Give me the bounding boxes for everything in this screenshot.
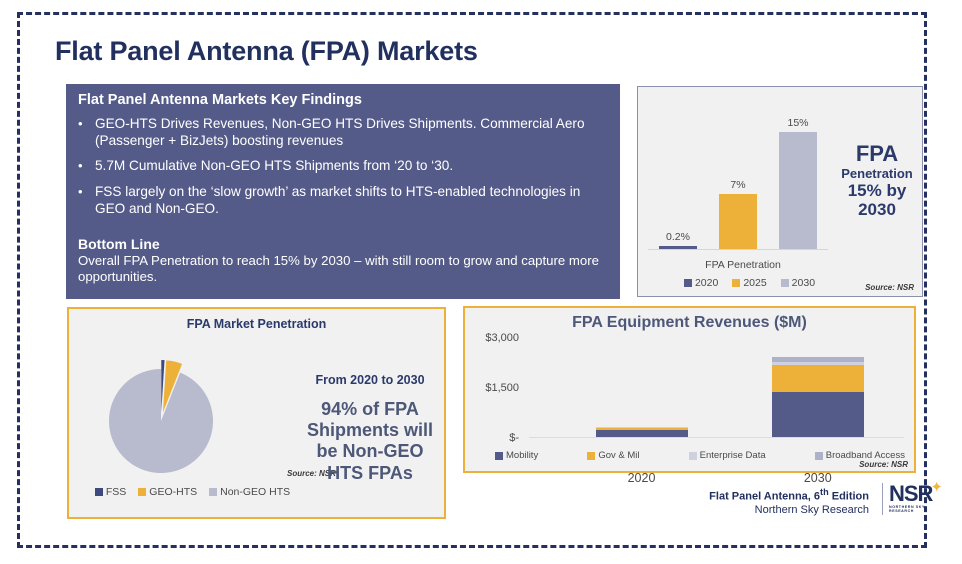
fpa-penetration-legend: 202020252030 bbox=[652, 277, 847, 289]
y-axis-tick-label: $1,500 bbox=[485, 382, 519, 394]
slide-root: Flat Panel Antenna (FPA) Markets Flat Pa… bbox=[0, 0, 962, 564]
legend-swatch-icon bbox=[495, 452, 503, 460]
fpa-market-penetration-panel: FPA Market Penetration Source: NSR FSSGE… bbox=[67, 307, 446, 519]
bar-value-label: 15% bbox=[779, 117, 817, 129]
callout-line-4: 2030 bbox=[834, 200, 920, 219]
list-item: • GEO-HTS Drives Revenues, Non-GEO HTS D… bbox=[78, 116, 608, 149]
fpa-equipment-revenues-panel: FPA Equipment Revenues ($M) $-$1,500$3,0… bbox=[463, 306, 916, 473]
source-note: Source: NSR bbox=[859, 460, 908, 469]
bar-2030 bbox=[779, 132, 817, 249]
revenue-plot-area: $-$1,500$3,00020202030 bbox=[529, 338, 904, 438]
footer-report-name: Flat Panel Antenna, 6 bbox=[709, 491, 820, 503]
bar-column: 15% bbox=[779, 114, 817, 249]
key-findings-bullet-list: • GEO-HTS Drives Revenues, Non-GEO HTS D… bbox=[78, 116, 608, 227]
legend-swatch-icon bbox=[95, 488, 103, 496]
legend-item: Enterprise Data bbox=[689, 450, 766, 461]
fpa-penetration-chart-panel: 0.2%7%15% FPA Penetration 202020252030 S… bbox=[637, 86, 923, 297]
pie-chart-title: FPA Market Penetration bbox=[69, 317, 444, 331]
legend-item: Mobility bbox=[495, 450, 538, 461]
fpa-penetration-plot-area: 0.2%7%15% FPA Penetration 202020252030 bbox=[648, 95, 828, 250]
legend-label: FSS bbox=[106, 486, 126, 498]
fpa-penetration-x-axis-label: FPA Penetration bbox=[648, 259, 838, 271]
pie-callout: From 2020 to 2030 94% of FPA Shipments w… bbox=[297, 373, 443, 484]
x-axis-tick-label: 2020 bbox=[628, 471, 656, 485]
nsr-logo-tagline: NORTHERN SKY RESEARCH bbox=[889, 505, 944, 513]
revenue-chart-legend: MobilityGov & MilEnterprise DataBroadban… bbox=[495, 450, 905, 461]
pie-chart-svg bbox=[103, 339, 229, 479]
stacked-bar-2030 bbox=[772, 357, 864, 437]
legend-label: Non-GEO HTS bbox=[220, 486, 290, 498]
bar-column: 7% bbox=[719, 114, 757, 249]
callout-headline-line: HTS FPAs bbox=[297, 463, 443, 484]
pie-chart-legend: FSSGEO-HTSNon-GEO HTS bbox=[75, 486, 310, 498]
x-axis-tick-label: 2030 bbox=[804, 471, 832, 485]
callout-headline-line: 94% of FPA bbox=[297, 399, 443, 420]
bottom-line-text: Overall FPA Penetration to reach 15% by … bbox=[78, 253, 618, 285]
footer-line-1: Flat Panel Antenna, 6th Edition bbox=[669, 487, 869, 504]
fpa-penetration-callout: FPA Penetration 15% by 2030 bbox=[834, 142, 920, 219]
footer-credit: Flat Panel Antenna, 6th Edition Northern… bbox=[669, 487, 869, 517]
legend-label: GEO-HTS bbox=[149, 486, 197, 498]
fpa-penetration-bars: 0.2%7%15% bbox=[648, 114, 828, 250]
star-icon: ✦ bbox=[930, 480, 943, 495]
legend-item: Non-GEO HTS bbox=[209, 486, 290, 498]
bullet-icon: • bbox=[78, 158, 95, 175]
bottom-line-block: Bottom Line Overall FPA Penetration to r… bbox=[78, 236, 618, 285]
pie-slice-non-geo-hts bbox=[109, 369, 213, 473]
key-findings-panel: Flat Panel Antenna Markets Key Findings … bbox=[66, 84, 620, 299]
bar-segment-mobility bbox=[772, 392, 864, 437]
footer-edition-sup: th bbox=[820, 487, 829, 497]
legend-swatch-icon bbox=[209, 488, 217, 496]
bar-segment-mobility bbox=[596, 430, 688, 437]
bar-value-label: 7% bbox=[719, 179, 757, 191]
page-title: Flat Panel Antenna (FPA) Markets bbox=[55, 36, 478, 67]
legend-item: GEO-HTS bbox=[138, 486, 197, 498]
key-findings-title: Flat Panel Antenna Markets Key Findings bbox=[78, 92, 362, 108]
legend-swatch-icon bbox=[684, 279, 692, 287]
list-item: • 5.7M Cumulative Non-GEO HTS Shipments … bbox=[78, 158, 608, 175]
legend-item: 2020 bbox=[684, 277, 718, 289]
legend-swatch-icon bbox=[815, 452, 823, 460]
footer-line-2: Northern Sky Research bbox=[669, 504, 869, 517]
bar-column: 0.2% bbox=[659, 114, 697, 249]
bullet-text: GEO-HTS Drives Revenues, Non-GEO HTS Dri… bbox=[95, 116, 608, 149]
legend-swatch-icon bbox=[781, 279, 789, 287]
callout-subtitle: From 2020 to 2030 bbox=[297, 373, 443, 387]
legend-label: 2020 bbox=[695, 277, 718, 289]
y-axis-tick-label: $- bbox=[509, 432, 519, 444]
legend-swatch-icon bbox=[587, 452, 595, 460]
pie-chart bbox=[103, 339, 229, 479]
callout-line-1: FPA bbox=[834, 142, 920, 167]
bullet-icon: • bbox=[78, 116, 95, 149]
legend-item: 2025 bbox=[732, 277, 766, 289]
bar-2025 bbox=[719, 194, 757, 249]
callout-headline-line: be Non-GEO bbox=[297, 441, 443, 462]
bar-value-label: 0.2% bbox=[659, 231, 697, 243]
legend-item: FSS bbox=[95, 486, 126, 498]
callout-headline: 94% of FPA Shipments will be Non-GEO HTS… bbox=[297, 399, 443, 484]
legend-label: Gov & Mil bbox=[598, 450, 639, 461]
bar-2020 bbox=[659, 246, 697, 249]
legend-item: 2030 bbox=[781, 277, 815, 289]
nsr-logo: ✦ NSR NORTHERN SKY RESEARCH bbox=[882, 483, 944, 515]
legend-label: Mobility bbox=[506, 450, 538, 461]
stacked-bar-2020 bbox=[596, 427, 688, 437]
legend-swatch-icon bbox=[689, 452, 697, 460]
legend-label: Enterprise Data bbox=[700, 450, 766, 461]
bullet-text: 5.7M Cumulative Non-GEO HTS Shipments fr… bbox=[95, 158, 608, 175]
bullet-text: FSS largely on the ‘slow growth’ as mark… bbox=[95, 184, 608, 217]
footer-edition-text: Edition bbox=[829, 491, 869, 503]
source-note: Source: NSR bbox=[865, 283, 914, 292]
legend-label: 2030 bbox=[792, 277, 815, 289]
y-axis-tick-label: $3,000 bbox=[485, 332, 519, 344]
bullet-icon: • bbox=[78, 184, 95, 217]
callout-headline-line: Shipments will bbox=[297, 420, 443, 441]
revenue-chart-title: FPA Equipment Revenues ($M) bbox=[465, 314, 914, 332]
list-item: • FSS largely on the ‘slow growth’ as ma… bbox=[78, 184, 608, 217]
legend-label: 2025 bbox=[743, 277, 766, 289]
legend-item: Gov & Mil bbox=[587, 450, 639, 461]
bar-segment-gov-mil bbox=[772, 365, 864, 392]
callout-line-3: 15% by bbox=[834, 181, 920, 200]
legend-swatch-icon bbox=[732, 279, 740, 287]
bottom-line-heading: Bottom Line bbox=[78, 236, 618, 252]
callout-line-2: Penetration bbox=[834, 167, 920, 182]
legend-swatch-icon bbox=[138, 488, 146, 496]
